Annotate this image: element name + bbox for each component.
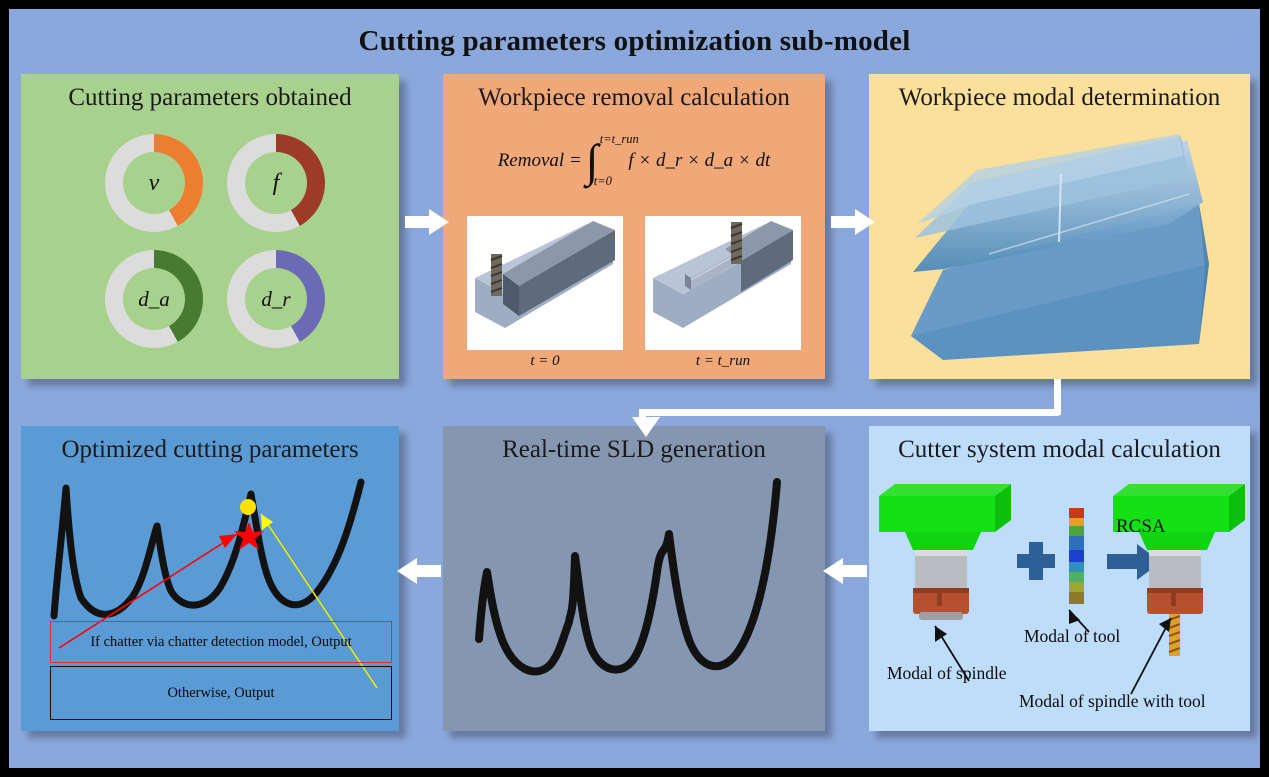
gauge-f-hole: f — [245, 152, 307, 214]
panel-workpiece-removal-title: Workpiece removal calculation — [443, 84, 825, 112]
otherwise-output-box: Otherwise, Output — [50, 666, 392, 720]
removal-formula: Removal = t=t_run ∫ t=0 f × d_r × d_a × … — [443, 134, 825, 188]
diagram-canvas: Cutting parameters optimization sub-mode… — [0, 0, 1269, 777]
label-modal-of-spindle-with-tool: Modal of spindle with tool — [1019, 691, 1206, 712]
thumbnail-workpiece-start — [467, 216, 623, 350]
plus-operator-icon — [1017, 542, 1055, 580]
label-modal-of-tool: Modal of tool — [1024, 626, 1120, 647]
otherwise-output-text: Otherwise, Output — [167, 685, 274, 702]
gauge-v-hole: v — [123, 152, 185, 214]
chatter-output-box: If chatter via chatter detection model, … — [50, 621, 392, 663]
workpiece-mode-shape-figure — [869, 74, 1250, 379]
spindle-left-graphic — [879, 484, 1011, 620]
panel-optimized-parameters: Optimized cutting parameters If chatter … — [21, 426, 399, 731]
arrow-e-to-d — [397, 558, 441, 584]
page-title: Cutting parameters optimization sub-mode… — [9, 25, 1260, 58]
realtime-sld-figure — [443, 426, 825, 731]
panel-cutter-modal: Cutter system modal calculation — [869, 426, 1250, 731]
yellow-dot-marker — [240, 499, 256, 515]
yellow-arrow-head — [261, 514, 273, 530]
gauge-v: v — [105, 134, 203, 232]
gauge-d-a-hole: d_a — [123, 268, 185, 330]
spindle-right-graphic — [1113, 484, 1245, 656]
panel-workpiece-removal: Workpiece removal calculation Removal = … — [443, 74, 825, 379]
tool-modal-bar — [1069, 508, 1084, 604]
gauge-d-a: d_a — [105, 250, 203, 348]
panel-realtime-sld: Real-time SLD generation — [443, 426, 825, 731]
thumbnail-caption-end: t = t_run — [645, 353, 801, 370]
tool-leader-arrow — [1069, 610, 1080, 624]
label-rcsa: RCSA — [1116, 516, 1166, 538]
cutter-system-figure — [869, 426, 1250, 731]
integral-lower-limit: t=0 — [594, 174, 612, 189]
gauge-d-r: d_r — [227, 250, 325, 348]
integral-upper-limit: t=t_run — [600, 132, 639, 147]
spindle-tool-leader-line — [1131, 618, 1171, 694]
arrow-f-to-e — [823, 558, 867, 584]
panel-cutting-parameters: Cutting parameters obtained v f d_a d_r — [21, 74, 399, 379]
chatter-output-text: If chatter via chatter detection model, … — [90, 634, 351, 651]
formula-lhs: Removal = — [498, 150, 582, 172]
integral-symbol-group: t=t_run ∫ t=0 — [586, 134, 599, 188]
formula-integrand: f × d_r × d_a × dt — [628, 150, 770, 172]
label-modal-of-spindle: Modal of spindle — [887, 663, 1007, 684]
thumbnail-workpiece-end — [645, 216, 801, 350]
gauge-f-label: f — [273, 170, 280, 197]
gauge-d-r-hole: d_r — [245, 268, 307, 330]
gauge-d-r-label: d_r — [261, 287, 290, 312]
gauge-f: f — [227, 134, 325, 232]
gauge-v-label: v — [149, 170, 160, 197]
gauge-d-a-label: d_a — [138, 287, 170, 312]
diagram-frame: Cutting parameters optimization sub-mode… — [9, 9, 1260, 768]
panel-workpiece-modal: Workpiece modal determination — [869, 74, 1250, 379]
panel-cutting-parameters-title: Cutting parameters obtained — [21, 84, 399, 112]
thumbnail-caption-start: t = 0 — [467, 353, 623, 370]
spindle-leader-arrow — [935, 626, 947, 642]
